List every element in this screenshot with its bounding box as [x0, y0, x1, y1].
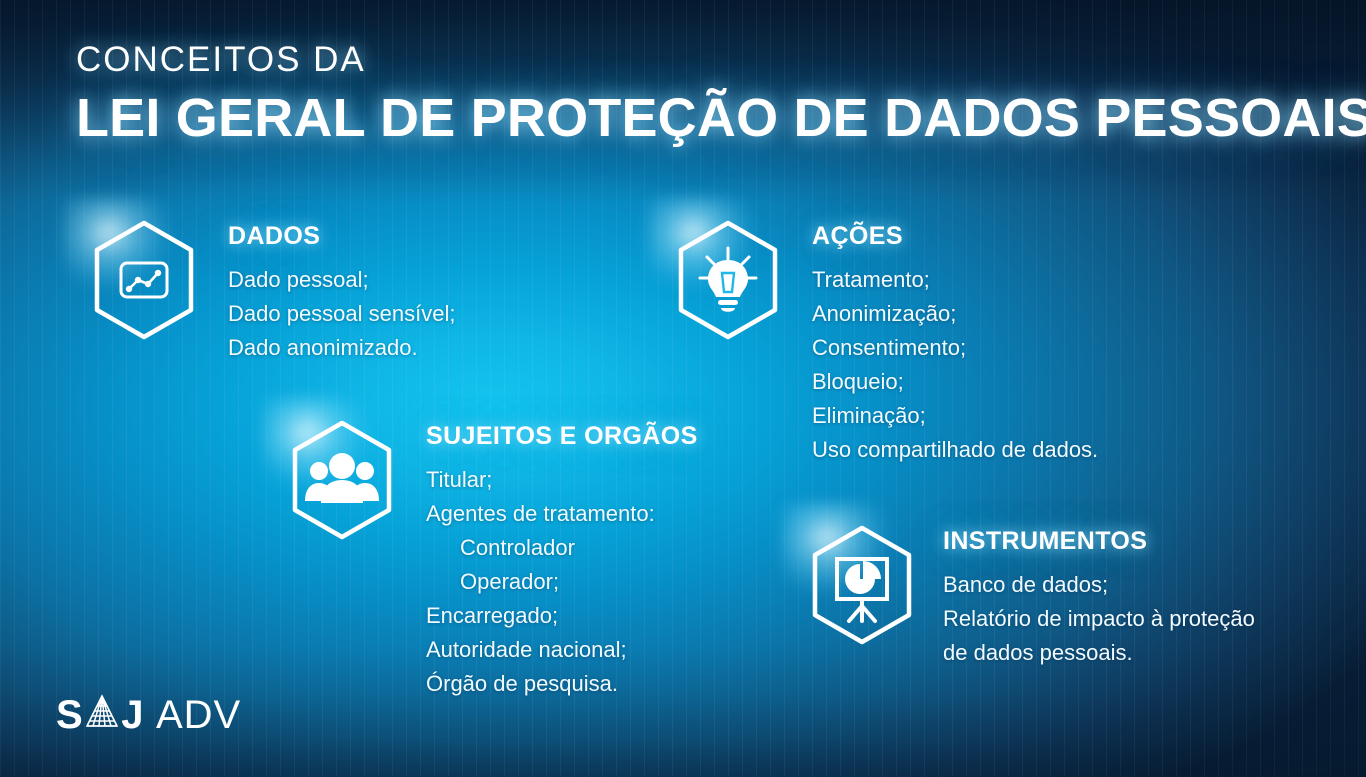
saj-adv-logo[interactable]: S [56, 694, 241, 735]
list-item: Agentes de tratamento: [426, 497, 698, 531]
list-item: Operador; [426, 565, 698, 599]
list-item: Consentimento; [812, 331, 1098, 365]
block-title: SUJEITOS E ORGÃOS [426, 424, 698, 449]
page-header: CONCEITOS DA LEI GERAL DE PROTEÇÃO DE DA… [76, 42, 1366, 146]
list-item: Anonimização; [812, 297, 1098, 331]
lightbulb-icon [700, 248, 756, 312]
list-item: de dados pessoais. [943, 636, 1255, 670]
logo-wordmark: S [56, 694, 241, 735]
hexagon-badge-instrumentos [806, 523, 918, 647]
infographic-canvas: CONCEITOS DA LEI GERAL DE PROTEÇÃO DE DA… [0, 0, 1366, 777]
list-item: Dado anonimizado. [228, 331, 455, 365]
concept-block-dados: DADOS Dado pessoal; Dado pessoal sensíve… [88, 218, 455, 365]
chart-screen-icon [121, 263, 167, 297]
list-item: Tratamento; [812, 263, 1098, 297]
list-item: Dado pessoal sensível; [228, 297, 455, 331]
list-item: Titular; [426, 463, 698, 497]
concept-block-sujeitos: SUJEITOS E ORGÃOS Titular; Agentes de tr… [286, 418, 698, 701]
logo-letter-j: J [121, 695, 144, 735]
list-item: Banco de dados; [943, 568, 1255, 602]
concept-block-acoes: AÇÕES Tratamento; Anonimização; Consenti… [672, 218, 1098, 467]
list-item: Controlador [426, 531, 698, 565]
list-item: Encarregado; [426, 599, 698, 633]
logo-letter-s: S [56, 695, 83, 735]
hexagon-badge-dados [88, 218, 200, 342]
page-title: LEI GERAL DE PROTEÇÃO DE DADOS PESSOAIS [76, 90, 1366, 146]
concept-text-instrumentos: INSTRUMENTOS Banco de dados; Relatório d… [943, 523, 1255, 670]
list-item: Dado pessoal; [228, 263, 455, 297]
people-group-icon [305, 453, 379, 503]
concept-text-sujeitos: SUJEITOS E ORGÃOS Titular; Agentes de tr… [426, 418, 698, 701]
logo-text-adv: ADV [156, 695, 241, 735]
concept-text-dados: DADOS Dado pessoal; Dado pessoal sensíve… [228, 218, 455, 365]
block-title: DADOS [228, 224, 455, 249]
list-item: Autoridade nacional; [426, 633, 698, 667]
list-item: Eliminação; [812, 399, 1098, 433]
concept-text-acoes: AÇÕES Tratamento; Anonimização; Consenti… [812, 218, 1098, 467]
list-item: Bloqueio; [812, 365, 1098, 399]
fan-grid-mark-icon [84, 694, 120, 735]
list-item: Relatório de impacto à proteção [943, 602, 1255, 636]
concept-block-instrumentos: INSTRUMENTOS Banco de dados; Relatório d… [806, 523, 1255, 670]
block-title: INSTRUMENTOS [943, 529, 1255, 554]
list-item: Órgão de pesquisa. [426, 667, 698, 701]
presentation-chart-icon [837, 559, 887, 621]
list-item: Uso compartilhado de dados. [812, 433, 1098, 467]
header-kicker: CONCEITOS DA [76, 42, 1366, 77]
block-title: AÇÕES [812, 224, 1098, 249]
hexagon-badge-sujeitos [286, 418, 398, 542]
hexagon-badge-acoes [672, 218, 784, 342]
